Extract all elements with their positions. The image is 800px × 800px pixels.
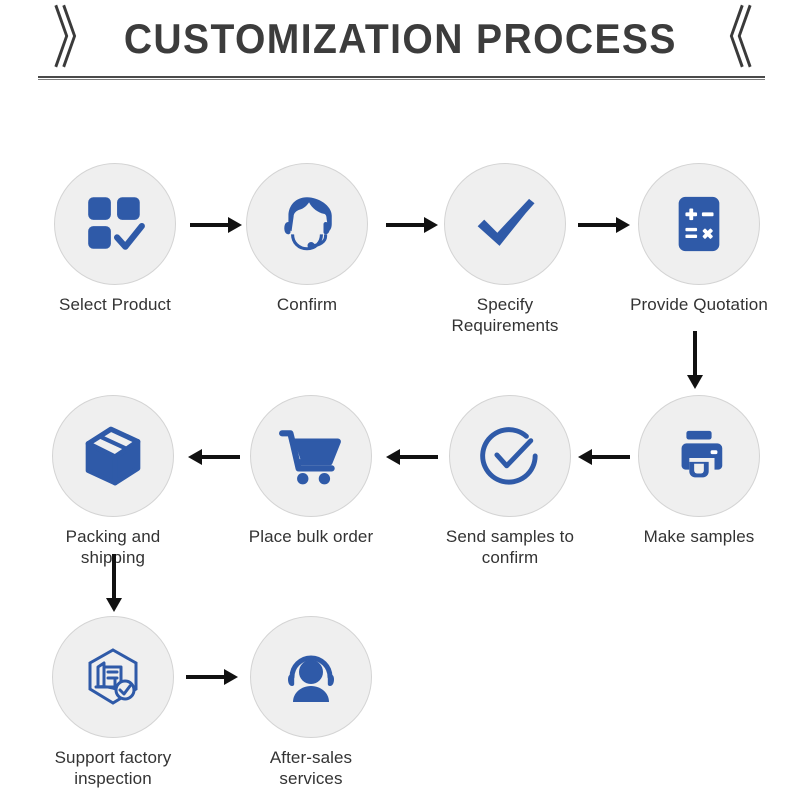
step-label: Select Product	[40, 294, 190, 315]
step-icon-circle	[52, 616, 174, 738]
connector-arrow-left	[386, 446, 438, 468]
checkmark-icon	[470, 189, 540, 259]
step-icon-circle	[444, 163, 566, 285]
customization-process-infographic: 》 CUSTOMIZATION PROCESS 《 Select Product	[0, 0, 800, 800]
step-label: Specify Requirements	[430, 294, 580, 337]
step-icon-circle	[250, 395, 372, 517]
step-icon-circle	[638, 163, 760, 285]
step-label: Send samples to confirm	[435, 526, 585, 569]
title-divider	[38, 76, 765, 80]
step-packing-shipping[interactable]: Packing and shipping	[38, 395, 188, 569]
step-specify-requirements[interactable]: Specify Requirements	[430, 163, 580, 337]
step-label: Make samples	[624, 526, 774, 547]
connector-arrow-down	[103, 554, 125, 612]
title-line: 》 CUSTOMIZATION PROCESS 《	[0, 8, 800, 70]
connector-arrow-right	[190, 214, 242, 236]
grid-check-icon	[82, 191, 148, 257]
step-icon-circle	[246, 163, 368, 285]
step-select-product[interactable]: Select Product	[40, 163, 190, 315]
step-icon-circle	[54, 163, 176, 285]
step-label: Support factory inspection	[38, 747, 188, 790]
calculator-icon	[668, 193, 730, 255]
step-icon-circle	[638, 395, 760, 517]
headphones-user-icon	[279, 645, 343, 709]
step-make-samples[interactable]: Make samples	[624, 395, 774, 547]
connector-arrow-right	[386, 214, 438, 236]
step-place-bulk-order[interactable]: Place bulk order	[236, 395, 386, 547]
step-factory-inspection[interactable]: Support factory inspection	[38, 616, 188, 790]
step-icon-circle	[52, 395, 174, 517]
step-icon-circle	[449, 395, 571, 517]
right-chevron-icon: 《	[703, 5, 747, 73]
connector-arrow-left	[578, 446, 630, 468]
package-box-icon	[80, 423, 146, 489]
step-label: Confirm	[232, 294, 382, 315]
step-confirm[interactable]: Confirm	[232, 163, 382, 315]
check-circle-icon	[475, 421, 545, 491]
page-header: 》 CUSTOMIZATION PROCESS 《	[0, 8, 800, 70]
factory-check-icon	[81, 645, 145, 709]
step-label: After-sales services	[236, 747, 386, 790]
step-after-sales-services[interactable]: After-sales services	[236, 616, 386, 790]
step-icon-circle	[250, 616, 372, 738]
connector-arrow-right	[186, 666, 238, 688]
step-send-samples[interactable]: Send samples to confirm	[435, 395, 585, 569]
step-label: Provide Quotation	[624, 294, 774, 315]
left-chevron-icon: 》	[53, 5, 97, 73]
headset-agent-icon	[274, 191, 340, 257]
connector-arrow-right	[578, 214, 630, 236]
shopping-cart-icon	[278, 423, 344, 489]
step-label: Place bulk order	[236, 526, 386, 547]
printer-icon	[668, 425, 730, 487]
step-provide-quotation[interactable]: Provide Quotation	[624, 163, 774, 315]
connector-arrow-left	[188, 446, 240, 468]
page-title: CUSTOMIZATION PROCESS	[123, 15, 676, 63]
connector-arrow-down	[684, 331, 706, 389]
